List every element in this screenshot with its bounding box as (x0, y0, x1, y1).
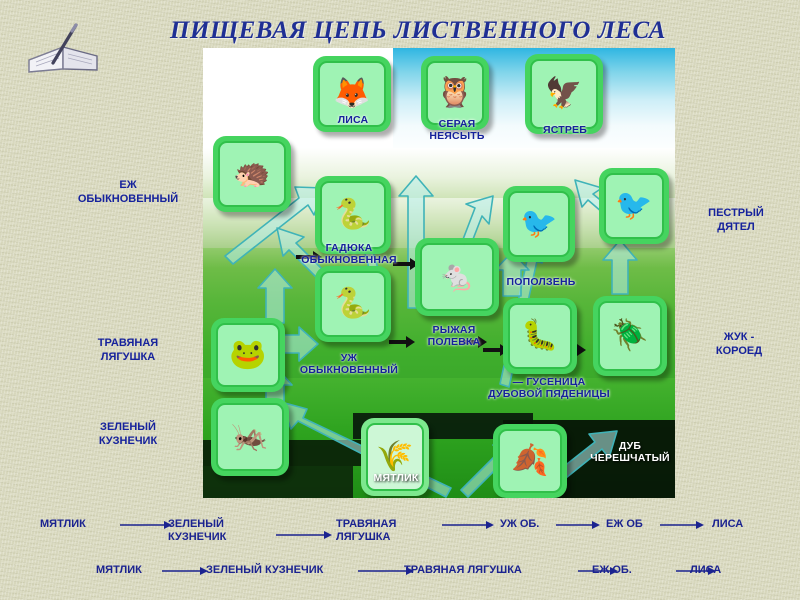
chain2-item-2: ТРАВЯНАЯ ЛЯГУШКА (404, 564, 564, 577)
card-viper-image: 🐍 (320, 181, 386, 249)
chain2-item-4: ЛИСА (690, 564, 740, 577)
chain1-arrow-2 (442, 520, 494, 530)
chain1-item-3: УЖ ОБ. (500, 518, 560, 531)
label-fox: ЛИСА (313, 114, 393, 126)
chain2-item-0: МЯТЛИК (96, 564, 162, 577)
chain1-item-4: ЕЖ ОБ (606, 518, 662, 531)
card-woodpecker-image: 🐦 (604, 173, 664, 239)
card-tawny-owl-image: 🦉 (426, 61, 484, 125)
card-grass-snake-image: 🐍 (320, 271, 386, 337)
hawk-icon: 🦅 (545, 79, 582, 109)
page-title: ПИЩЕВАЯ ЦЕПЬ ЛИСТВЕННОГО ЛЕСА (118, 17, 718, 45)
card-caterpillar[interactable]: 🐛 (503, 298, 577, 374)
chain1-item-0: МЯТЛИК (40, 518, 114, 531)
card-oak[interactable]: 🍂 (493, 424, 567, 498)
card-hawk-image: 🦅 (530, 59, 598, 129)
label-frog-outside: ТРАВЯНАЯ ЛЯГУШКА (62, 336, 194, 364)
viper-icon: 🐍 (334, 200, 371, 230)
card-grasshopper[interactable]: 🦗 (211, 398, 289, 476)
label-beetle-outside: ЖУК - КОРОЕД (684, 330, 794, 358)
chain1-item-1: ЗЕЛЕНЫЙ КУЗНЕЧИК (168, 518, 268, 544)
card-hedgehog[interactable]: 🦔 (213, 136, 291, 212)
chain1-item-2: ТРАВЯНАЯ ЛЯГУШКА (336, 518, 436, 544)
card-frog-image: 🐸 (216, 323, 280, 387)
chain1-arrow-3 (556, 520, 600, 530)
card-oak-image: 🍂 (498, 429, 562, 493)
label-hawk: ЯСТРЕБ (523, 124, 607, 136)
card-caterpillar-image: 🐛 (508, 303, 572, 369)
card-vole-image: 🐁 (420, 243, 494, 311)
chain2-item-3: ЕЖ ОБ. (592, 564, 654, 577)
card-grasshopper-image: 🦗 (216, 403, 284, 471)
beetle-icon: 🪲 (611, 321, 648, 351)
vole-icon: 🐁 (438, 262, 475, 292)
label-grasshopper-outside: ЗЕЛЕНЫЙ КУЗНЕЧИК (62, 420, 194, 448)
card-hedgehog-image: 🦔 (218, 141, 286, 207)
card-frog[interactable]: 🐸 (211, 318, 285, 392)
bluegrass-icon: 🌾 (376, 442, 413, 472)
frog-icon: 🐸 (229, 340, 266, 370)
label-nuthatch: ПОПОЛЗЕНЬ (493, 276, 589, 288)
label-vole: РЫЖАЯ ПОЛЕВКА (409, 324, 499, 348)
open-book-with-pen-icon (26, 22, 104, 74)
card-bark-beetle[interactable]: 🪲 (593, 296, 667, 376)
nuthatch-icon: 🐦 (520, 209, 557, 239)
label-tawny-owl: СЕРАЯ НЕЯСЫТЬ (415, 118, 499, 142)
label-hedgehog-outside: ЕЖ ОБЫКНОВЕННЫЙ (58, 178, 198, 206)
label-caterpillar: — ГУСЕНИЦА ДУБОВОЙ ПЯДЕНИЦЫ (473, 376, 625, 400)
woodpecker-icon: 🐦 (615, 191, 652, 221)
card-bark-beetle-image: 🪲 (598, 301, 662, 371)
chain1-arrow-0 (120, 520, 172, 530)
label-woodpecker-outside: ПЕСТРЫЙ ДЯТЕЛ (680, 206, 792, 234)
fox-icon: 🦊 (333, 79, 370, 109)
label-oak: ДУБ ЧЕРЕШЧАТЫЙ (587, 440, 673, 464)
chain1-arrow-1 (276, 530, 332, 540)
chain1-item-5: ЛИСА (712, 518, 768, 531)
food-chain-row-1: МЯТЛИК ЗЕЛЕНЫЙ КУЗНЕЧИК ТРАВЯНАЯ ЛЯГУШКА… (0, 508, 800, 552)
label-grass-snake: УЖ ОБЫКНОВЕННЫЙ (293, 352, 405, 376)
card-woodpecker[interactable]: 🐦 (599, 168, 669, 244)
food-chain-row-2: МЯТЛИК ЗЕЛЕНЫЙ КУЗНЕЧИК ТРАВЯНАЯ ЛЯГУШКА… (0, 558, 800, 586)
hedgehog-icon: 🦔 (233, 159, 270, 189)
card-nuthatch[interactable]: 🐦 (503, 186, 575, 262)
caterpillar-icon: 🐛 (521, 321, 558, 351)
card-vole[interactable]: 🐁 (415, 238, 499, 316)
grasshopper-icon: 🦗 (231, 422, 268, 452)
chain2-item-1: ЗЕЛЕНЫЙ КУЗНЕЧИК (206, 564, 358, 577)
chain1-arrow-4 (660, 520, 704, 530)
card-grass-snake[interactable]: 🐍 (315, 266, 391, 342)
card-hawk[interactable]: 🦅 (525, 54, 603, 134)
card-nuthatch-image: 🐦 (508, 191, 570, 257)
oak-icon: 🍂 (511, 446, 548, 476)
card-bluegrass[interactable]: 🌾 (361, 418, 429, 496)
chain2-arrow-0 (162, 566, 208, 576)
label-viper: ГАДЮКА ОБЫКНОВЕННАЯ (291, 242, 407, 266)
label-bluegrass: МЯТЛИК (361, 472, 431, 484)
food-web-diagram: 🦊 🦉 🦅 🦔 🐍 🐍 🐁 🐦 🐦 🐛 🪲 🐸 🦗 🌾 🍂 ЛИСА (203, 48, 675, 498)
grass-snake-icon: 🐍 (334, 289, 371, 319)
owl-icon: 🦉 (436, 78, 473, 108)
